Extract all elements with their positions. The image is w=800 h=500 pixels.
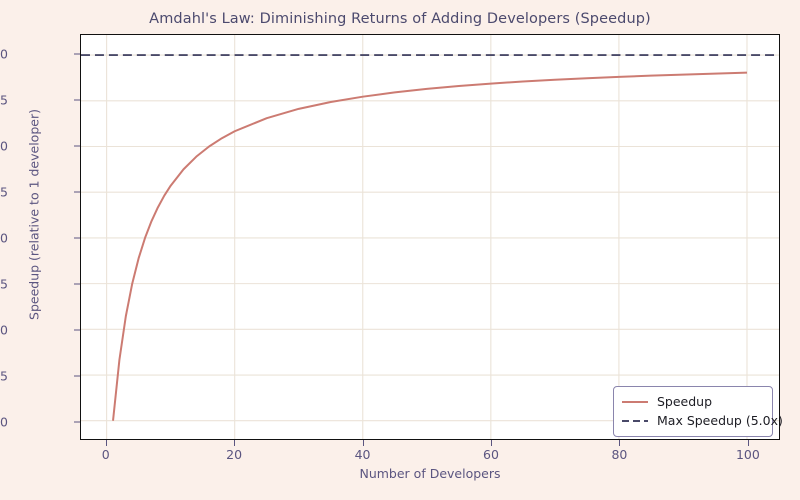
- y-tick-mark: [74, 375, 80, 376]
- y-tick-label: 2.5: [0, 276, 8, 291]
- y-tick-label: 3.5: [0, 184, 8, 199]
- series-speedup: [113, 73, 747, 421]
- x-axis-label: Number of Developers: [80, 466, 780, 481]
- x-tick-label: 60: [483, 447, 499, 462]
- x-tick-label: 80: [611, 447, 627, 462]
- y-tick-label: 1.5: [0, 368, 8, 383]
- x-tick-mark: [491, 440, 492, 446]
- x-tick-label: 20: [226, 447, 242, 462]
- y-tick-mark: [74, 237, 80, 238]
- y-tick-label: 3.0: [0, 230, 8, 245]
- legend-item[interactable]: Speedup: [622, 392, 764, 411]
- legend-label: Speedup: [657, 394, 712, 409]
- y-tick-mark: [74, 100, 80, 101]
- chart-legend[interactable]: SpeedupMax Speedup (5.0x): [613, 386, 773, 437]
- x-tick-label: 40: [355, 447, 371, 462]
- legend-swatch-icon: [622, 396, 648, 408]
- y-tick-label: 1.0: [0, 414, 8, 429]
- y-tick-label: 4.5: [0, 93, 8, 108]
- y-tick-mark: [74, 421, 80, 422]
- y-tick-label: 5.0: [0, 47, 8, 62]
- y-tick-mark: [74, 283, 80, 284]
- legend-swatch-icon: [622, 415, 648, 427]
- y-tick-mark: [74, 54, 80, 55]
- x-tick-mark: [748, 440, 749, 446]
- y-axis-label: Speedup (relative to 1 developer): [27, 5, 42, 425]
- chart-title: Amdahl's Law: Diminishing Returns of Add…: [0, 11, 800, 27]
- x-tick-mark: [234, 440, 235, 446]
- x-tick-mark: [619, 440, 620, 446]
- x-tick-mark: [363, 440, 364, 446]
- y-tick-mark: [74, 146, 80, 147]
- y-tick-mark: [74, 329, 80, 330]
- legend-label: Max Speedup (5.0x): [657, 413, 783, 428]
- y-tick-mark: [74, 191, 80, 192]
- x-tick-label: 100: [736, 447, 760, 462]
- y-tick-label: 2.0: [0, 322, 8, 337]
- data-series-layer: [81, 35, 779, 439]
- x-tick-mark: [106, 440, 107, 446]
- x-tick-label: 0: [102, 447, 110, 462]
- plot-area: [80, 34, 780, 440]
- legend-item[interactable]: Max Speedup (5.0x): [622, 411, 764, 430]
- y-tick-label: 4.0: [0, 139, 8, 154]
- chart-figure: Amdahl's Law: Diminishing Returns of Add…: [0, 0, 800, 500]
